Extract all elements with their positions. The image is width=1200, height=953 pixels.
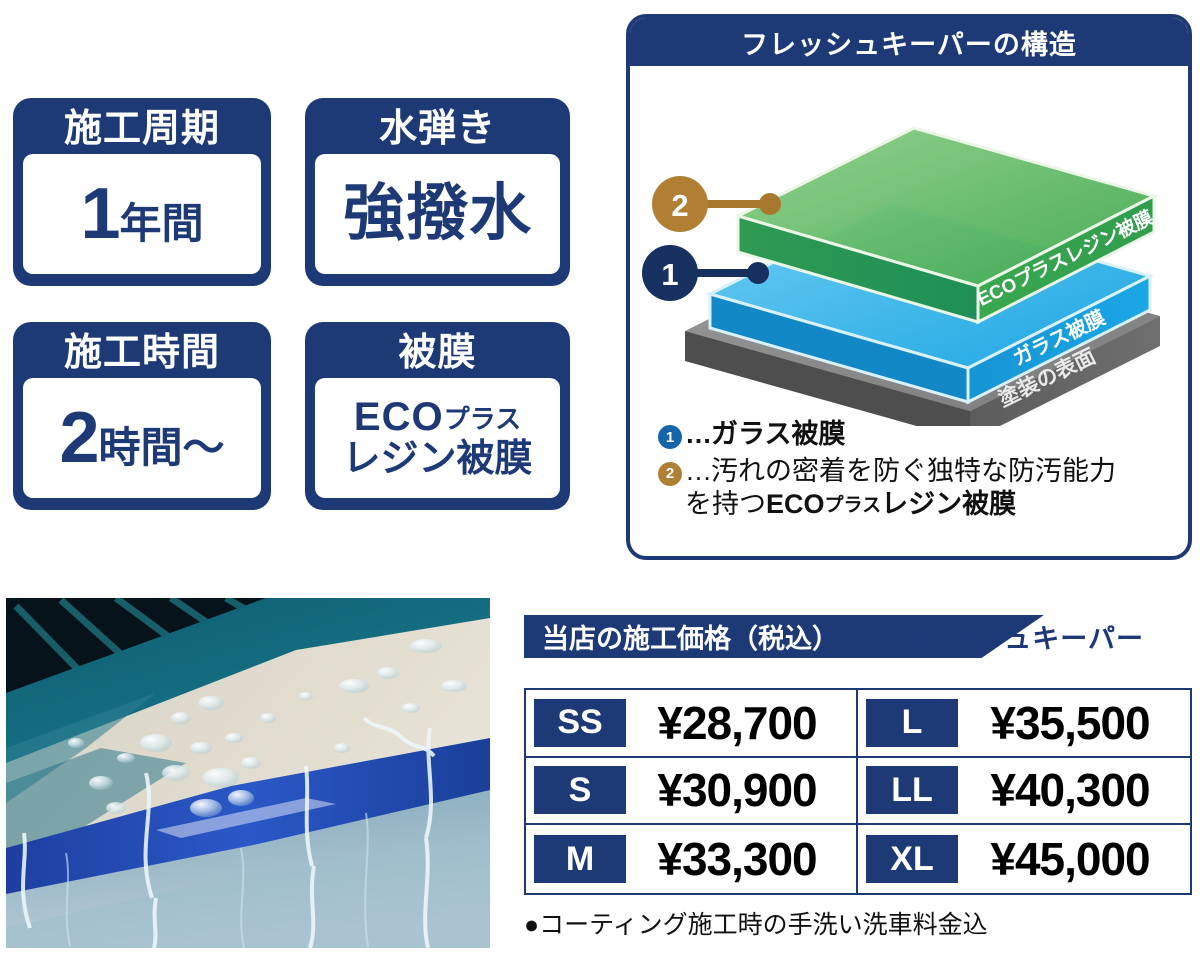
price-row: S ¥30,900: [526, 758, 858, 826]
feature-card-body: 強撥水: [315, 154, 560, 274]
size-chip: L: [866, 699, 958, 747]
feature-value-line1: ECOプラス: [354, 396, 521, 438]
size-chip: SS: [534, 699, 626, 747]
legend-label: ガラス被膜: [711, 419, 845, 449]
legend-label-line2-pre: を持つ: [685, 489, 766, 519]
size-chip: M: [534, 835, 626, 883]
feature-card-construction-cycle: 施工周期 1年間: [13, 98, 271, 286]
plus-label: プラス: [444, 404, 521, 434]
legend-text-1: …ガラス被膜: [685, 418, 845, 451]
feature-value-unit: 年間: [120, 200, 204, 247]
feature-value-number: 1: [80, 174, 119, 254]
layer-structure-diagram: 塗装の表面 ガラス被膜 ECOプラスレジン被膜 2: [630, 66, 1188, 426]
legend-text-2: …汚れの密着を防ぐ独特な防汚能力 を持つECOプラスレジン被膜: [685, 455, 1116, 521]
feature-card-water-repellency: 水弾き 強撥水: [305, 98, 570, 286]
legend-item-2: 2 …汚れの密着を防ぐ独特な防汚能力 を持つECOプラスレジン被膜: [658, 455, 1168, 521]
legend-item-1: 1 …ガラス被膜: [658, 418, 1168, 451]
legend-dots: …: [685, 456, 711, 486]
svg-text:1: 1: [661, 257, 678, 292]
feature-value-line2: レジン被膜: [342, 440, 532, 480]
price-table: SS ¥28,700 L ¥35,500 S ¥30,900 LL ¥40,30…: [524, 688, 1192, 895]
feature-card-body: 1年間: [23, 154, 261, 274]
feature-card-title: 被膜: [315, 330, 560, 378]
price-row: SS ¥28,700: [526, 690, 858, 758]
price-note: ●コーティング施工時の手洗い洗車料金込: [524, 905, 988, 941]
photo-illustration: [6, 598, 490, 948]
legend-badge-1: 1: [658, 425, 682, 449]
water-beading-photo: [6, 598, 490, 948]
price-value: ¥30,900: [626, 763, 848, 817]
legend-badge-2: 2: [658, 462, 682, 486]
legend-label-line2-post: レジン被膜: [881, 489, 1016, 519]
feature-card-coating-film: 被膜 ECOプラス レジン被膜: [305, 322, 570, 510]
svg-text:2: 2: [671, 188, 688, 223]
legend-plus-label: プラス: [825, 495, 882, 516]
structure-legend: 1 …ガラス被膜 2 …汚れの密着を防ぐ独特な防汚能力 を持つECOプラスレジン…: [658, 418, 1168, 525]
feature-card-title: 施工周期: [23, 106, 261, 154]
feature-card-body: 2時間～: [23, 378, 261, 498]
price-row: M ¥33,300: [526, 825, 858, 893]
price-header-right-label: フレッシュキーパー: [892, 615, 1144, 658]
price-value: ¥45,000: [958, 832, 1182, 886]
price-value: ¥40,300: [958, 763, 1182, 817]
feature-card-title: 施工時間: [23, 330, 261, 378]
feature-value-number: 2: [59, 398, 98, 478]
legend-eco-label: ECO: [766, 489, 825, 519]
feature-card-title: 水弾き: [315, 106, 560, 154]
feature-card-construction-time: 施工時間 2時間～: [13, 322, 271, 510]
price-row: L ¥35,500: [858, 690, 1190, 758]
structure-panel-body: 塗装の表面 ガラス被膜 ECOプラスレジン被膜 2: [630, 66, 1188, 556]
eco-label: ECO: [354, 395, 444, 439]
size-chip: S: [534, 766, 626, 814]
feature-value: 1年間: [80, 178, 203, 250]
legend-dots: …: [685, 419, 711, 449]
price-row: XL ¥45,000: [858, 825, 1190, 893]
structure-panel-title: フレッシュキーパーの構造: [630, 18, 1188, 66]
price-value: ¥28,700: [626, 696, 848, 750]
size-chip: LL: [866, 766, 958, 814]
price-table-header: 当店の施工価格（税込） フレッシュキーパー: [524, 615, 1192, 658]
feature-value-unit: 時間～: [99, 424, 225, 471]
feature-value: 2時間～: [59, 402, 224, 474]
size-chip: XL: [866, 835, 958, 883]
feature-value: 強撥水: [343, 181, 532, 246]
price-row: LL ¥40,300: [858, 758, 1190, 826]
price-value: ¥33,300: [626, 832, 848, 886]
feature-card-body: ECOプラス レジン被膜: [315, 378, 560, 498]
legend-label-line1: 汚れの密着を防ぐ独特な防汚能力: [711, 456, 1116, 486]
structure-panel: フレッシュキーパーの構造: [626, 14, 1192, 560]
price-value: ¥35,500: [958, 696, 1182, 750]
